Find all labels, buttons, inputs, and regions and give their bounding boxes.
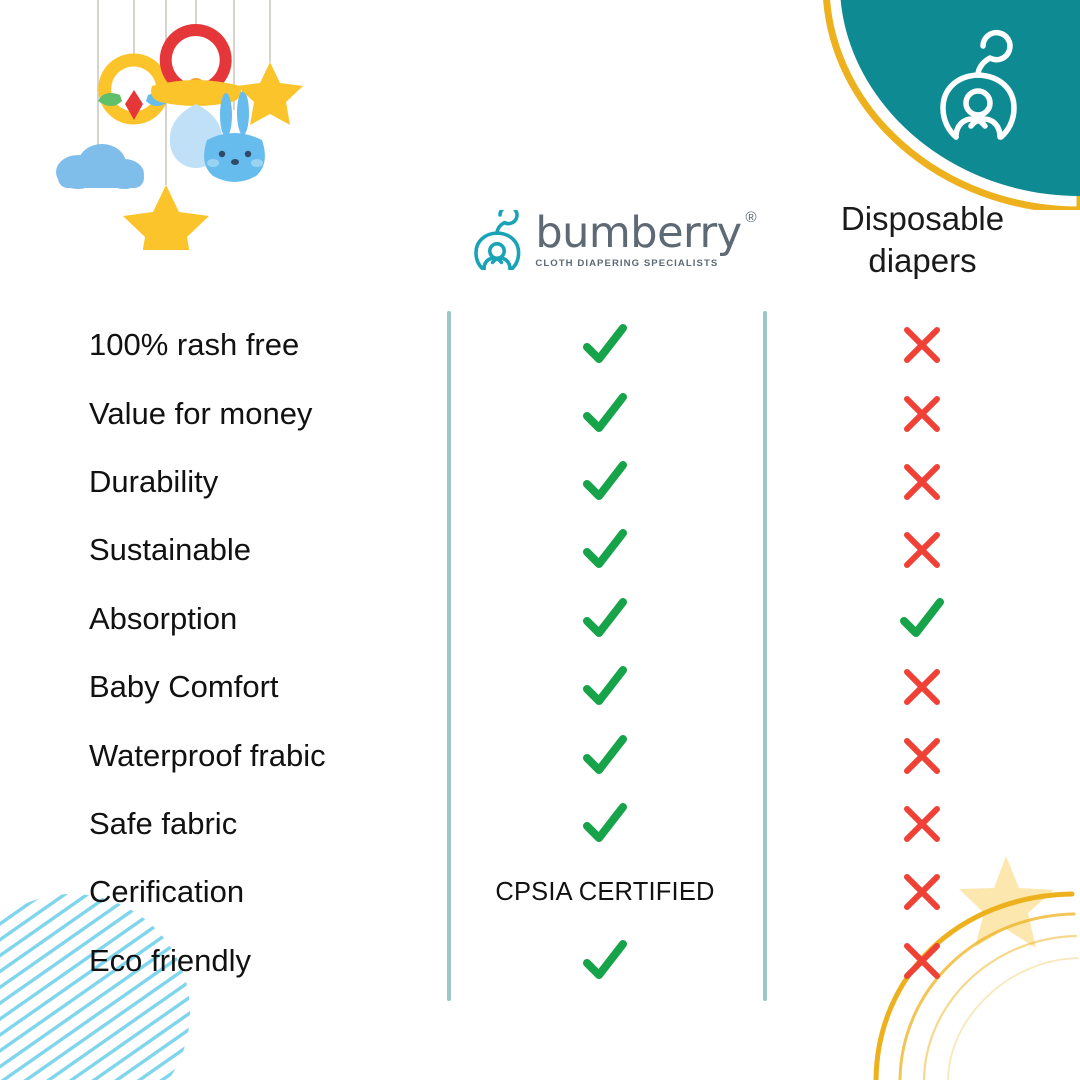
comparison-table: bumberry ® CLOTH DIAPERING SPECIALISTS D… xyxy=(0,0,1080,1080)
bumberry-cell xyxy=(447,322,763,368)
check-icon xyxy=(582,527,628,573)
comparison-row: Absorption xyxy=(0,585,1080,653)
bumberry-cell xyxy=(447,664,763,710)
cross-icon xyxy=(902,462,942,502)
check-icon xyxy=(582,596,628,642)
disposable-cell xyxy=(763,394,1080,434)
certification-label: CPSIA CERTIFIED xyxy=(495,878,714,907)
disposable-cell xyxy=(763,872,1080,912)
mother-and-child-icon xyxy=(472,210,524,270)
check-icon xyxy=(582,322,628,368)
cross-icon xyxy=(902,804,942,844)
disposable-cell xyxy=(763,667,1080,707)
check-icon xyxy=(582,459,628,505)
bumberry-cell xyxy=(447,391,763,437)
bumberry-cell xyxy=(447,801,763,847)
check-icon xyxy=(582,664,628,710)
disposable-cell xyxy=(763,530,1080,570)
brand-tagline: CLOTH DIAPERING SPECIALISTS xyxy=(535,258,741,269)
feature-label: 100% rash free xyxy=(0,327,447,363)
bumberry-cell: CPSIA CERTIFIED xyxy=(447,878,763,907)
comparison-rows: 100% rash freeValue for moneyDurabilityS… xyxy=(0,311,1080,995)
column-divider-right xyxy=(763,311,767,1001)
disposable-diapers-column-header: Disposable diapers xyxy=(765,190,1080,290)
bumberry-logo: bumberry ® CLOTH DIAPERING SPECIALISTS xyxy=(449,190,765,290)
check-icon xyxy=(582,801,628,847)
feature-label: Sustainable xyxy=(0,532,447,568)
feature-label: Durability xyxy=(0,464,447,500)
header-line-1: Disposable xyxy=(841,198,1004,240)
comparison-row: 100% rash free xyxy=(0,311,1080,379)
comparison-row: CerificationCPSIA CERTIFIED xyxy=(0,858,1080,926)
header-line-2: diapers xyxy=(868,240,976,282)
table-column-headers: bumberry ® CLOTH DIAPERING SPECIALISTS D… xyxy=(0,190,1080,290)
bumberry-cell xyxy=(447,596,763,642)
disposable-cell xyxy=(763,596,1080,642)
comparison-row: Safe fabric xyxy=(0,790,1080,858)
check-icon xyxy=(582,391,628,437)
cross-icon xyxy=(902,736,942,776)
column-divider-left xyxy=(447,311,451,1001)
cross-icon xyxy=(902,872,942,912)
comparison-infographic: bumberry ® CLOTH DIAPERING SPECIALISTS D… xyxy=(0,0,1080,1080)
feature-label: Cerification xyxy=(0,874,447,910)
check-icon xyxy=(582,938,628,984)
disposable-cell xyxy=(763,325,1080,365)
comparison-row: Sustainable xyxy=(0,516,1080,584)
bumberry-wordmark: bumberry ® CLOTH DIAPERING SPECIALISTS xyxy=(535,212,741,269)
feature-label: Safe fabric xyxy=(0,806,447,842)
feature-label: Absorption xyxy=(0,601,447,637)
comparison-row: Eco friendly xyxy=(0,927,1080,995)
cross-icon xyxy=(902,530,942,570)
comparison-row: Baby Comfort xyxy=(0,653,1080,721)
comparison-row: Durability xyxy=(0,448,1080,516)
disposable-cell xyxy=(763,804,1080,844)
bumberry-cell xyxy=(447,938,763,984)
cross-icon xyxy=(902,941,942,981)
comparison-row: Value for money xyxy=(0,379,1080,447)
feature-label: Eco friendly xyxy=(0,943,447,979)
feature-label: Value for money xyxy=(0,396,447,432)
cross-icon xyxy=(902,394,942,434)
disposable-cell xyxy=(763,941,1080,981)
comparison-row: Waterproof frabic xyxy=(0,721,1080,789)
bumberry-cell xyxy=(447,459,763,505)
cross-icon xyxy=(902,325,942,365)
check-icon xyxy=(899,596,945,642)
brand-name: bumberry xyxy=(535,212,741,255)
bumberry-cell xyxy=(447,733,763,779)
check-icon xyxy=(582,733,628,779)
cross-icon xyxy=(902,667,942,707)
disposable-cell xyxy=(763,462,1080,502)
bumberry-cell xyxy=(447,527,763,573)
disposable-cell xyxy=(763,736,1080,776)
feature-label: Baby Comfort xyxy=(0,669,447,705)
registered-trademark-symbol: ® xyxy=(746,209,757,226)
feature-label: Waterproof frabic xyxy=(0,738,447,774)
